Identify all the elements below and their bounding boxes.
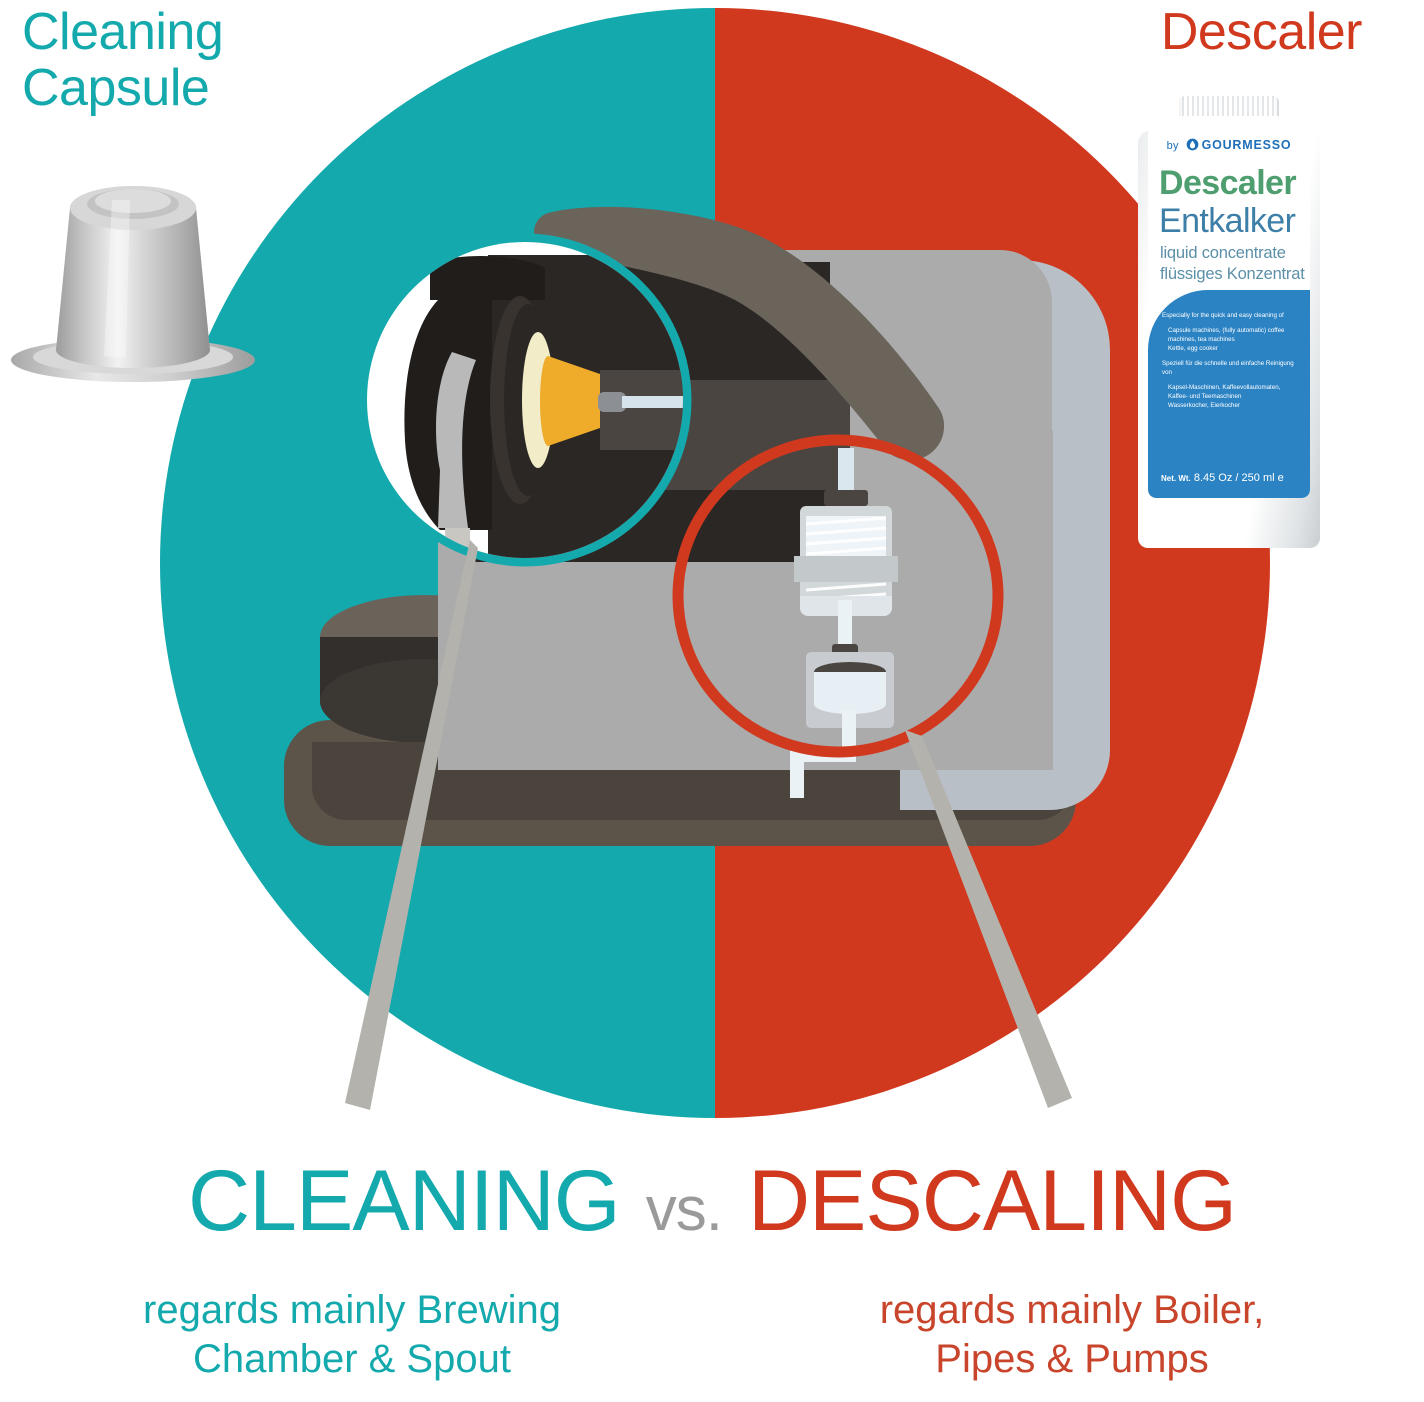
caption-descaling: regards mainly Boiler, Pipes & Pumps xyxy=(742,1286,1402,1384)
fineprint-en-bullet-1: Capsule machines, (fully automatic) coff… xyxy=(1168,327,1284,343)
cleaning-capsule-icon xyxy=(8,160,258,400)
label-subtitle-en: liquid concentrate xyxy=(1160,244,1286,263)
headline-vs: vs. xyxy=(620,1175,748,1244)
fineprint-de-bullet-1: Kapsel-Maschinen, Kaffeevollautomaten, K… xyxy=(1168,384,1280,400)
brand-name-text: GOURMESSO xyxy=(1202,138,1292,152)
label-fineprint: Especially for the quick and easy cleani… xyxy=(1162,312,1298,417)
label-title-en: Descaler xyxy=(1159,164,1296,203)
fineprint-en-bullets: Capsule machines, (fully automatic) coff… xyxy=(1162,327,1298,354)
label-title-de: Entkalker xyxy=(1159,202,1295,241)
fineprint-de-intro: Speziell für die schnelle und einfache R… xyxy=(1162,360,1298,378)
net-weight-prefix: Net. Wt. xyxy=(1161,474,1191,483)
net-weight-value: 8.45 Oz / 250 ml e xyxy=(1194,472,1284,484)
caption-cleaning: regards mainly Brewing Chamber & Spout xyxy=(22,1286,682,1384)
label-blue-panel: Especially for the quick and easy cleani… xyxy=(1148,290,1310,498)
fineprint-en-bullet-2: Kettle, egg cooker xyxy=(1168,345,1218,352)
descaler-bottle: by GOURMESSO Descaler Entkalker liquid c… xyxy=(1138,96,1320,548)
infographic-poster: Cleaning Capsule Descaler xyxy=(0,0,1424,1402)
fineprint-en-intro: Especially for the quick and easy cleani… xyxy=(1162,312,1298,321)
fineprint-de-bullets: Kapsel-Maschinen, Kaffeevollautomaten, K… xyxy=(1162,384,1298,411)
split-circle-background xyxy=(160,8,1270,1118)
headline-cleaning: CLEANING xyxy=(188,1153,620,1249)
brand-line: by GOURMESSO xyxy=(1148,138,1310,152)
label-subtitle-de: flüssiges Konzentrat xyxy=(1160,265,1305,284)
bottle-label: by GOURMESSO Descaler Entkalker liquid c… xyxy=(1148,116,1310,498)
net-weight: Net. Wt. 8.45 Oz / 250 ml e xyxy=(1161,472,1284,484)
fineprint-de-bullet-2: Wasserkocher, Eierkocher xyxy=(1168,402,1240,409)
brand-by-text: by xyxy=(1167,140,1179,152)
headline-descaling: DESCALING xyxy=(748,1153,1236,1249)
headline: CLEANINGvs.DESCALING xyxy=(0,1152,1424,1251)
droplet-icon xyxy=(1186,138,1199,151)
